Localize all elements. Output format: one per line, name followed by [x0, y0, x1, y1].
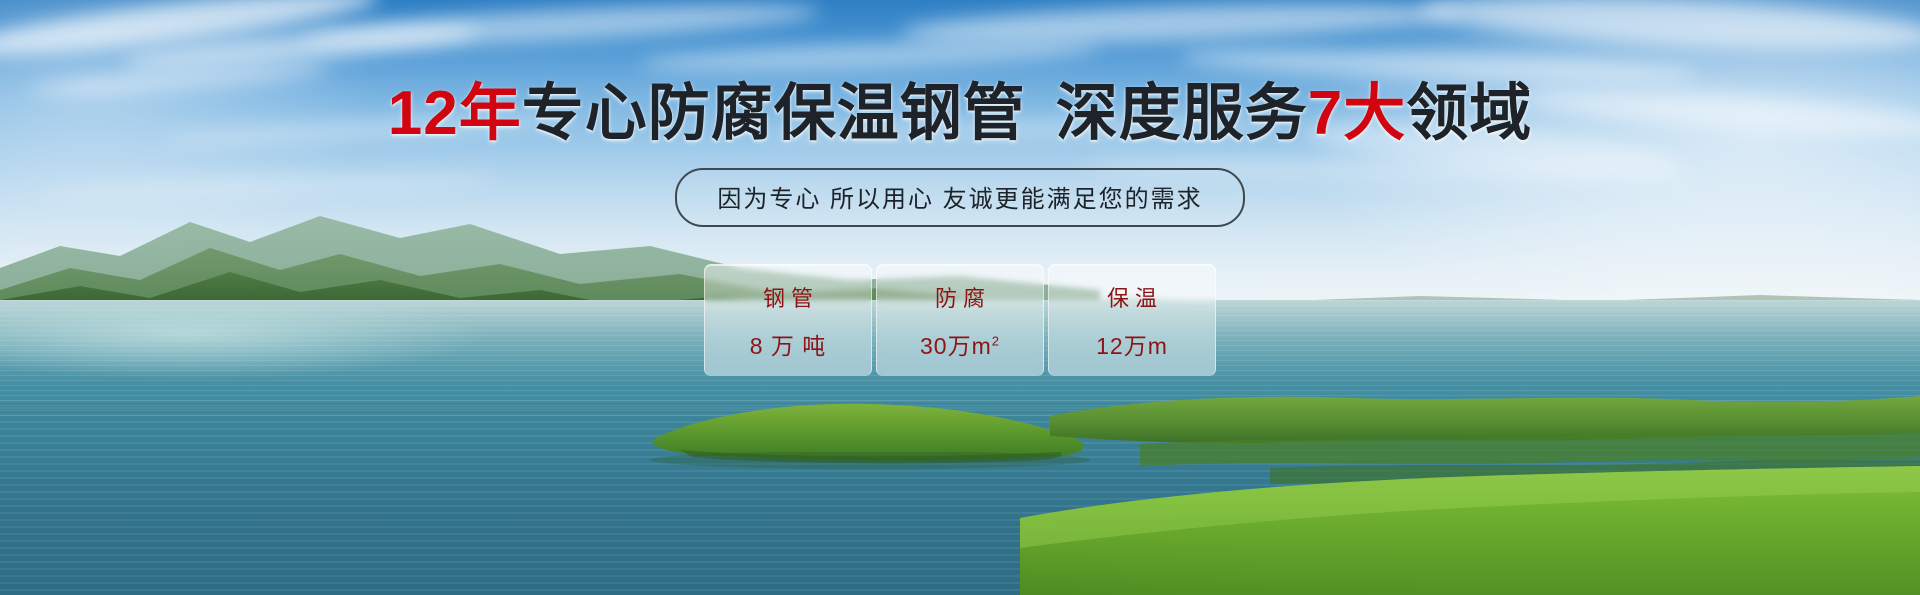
headline-years: 12年: [388, 79, 522, 148]
subtitle-pill: 因为专心 所以用心 友诚更能满足您的需求: [675, 168, 1244, 227]
headline-service: 深度服务: [1056, 79, 1308, 148]
stat-card-value-text: 8 万 吨: [750, 333, 827, 359]
stat-card-value: 12万m: [1096, 327, 1168, 361]
headline-fields: 领域: [1406, 79, 1532, 148]
stat-card-anticorrosion[interactable]: 防腐 30万m2: [876, 264, 1044, 376]
subtitle-container: 因为专心 所以用心 友诚更能满足您的需求: [0, 168, 1920, 227]
stat-card-label: 保温: [1101, 281, 1163, 313]
stat-card-value: 8 万 吨: [750, 327, 827, 361]
stat-card-label: 防腐: [929, 281, 991, 313]
headline-main: 专心防腐保温钢管: [522, 79, 1026, 148]
stat-card-value: 30万m2: [920, 327, 1000, 361]
foreground-grass: [1020, 452, 1920, 595]
stat-card-unit-exponent: 2: [992, 333, 1000, 348]
stat-card-insulation[interactable]: 保温 12万m: [1048, 264, 1216, 376]
hero-banner: 12年专心防腐保温钢管深度服务7大领域 因为专心 所以用心 友诚更能满足您的需求…: [0, 0, 1920, 595]
stat-card-steel-pipe[interactable]: 钢管 8 万 吨: [704, 264, 872, 376]
stat-card-value-text: 12万m: [1096, 333, 1168, 359]
page-title: 12年专心防腐保温钢管深度服务7大领域: [0, 83, 1920, 145]
headline-seven-major: 7大: [1308, 79, 1406, 148]
stat-card-label: 钢管: [757, 281, 819, 313]
stat-card-value-text: 30万m: [920, 333, 992, 359]
stat-cards: 钢管 8 万 吨 防腐 30万m2 保温 12万m: [0, 264, 1920, 376]
